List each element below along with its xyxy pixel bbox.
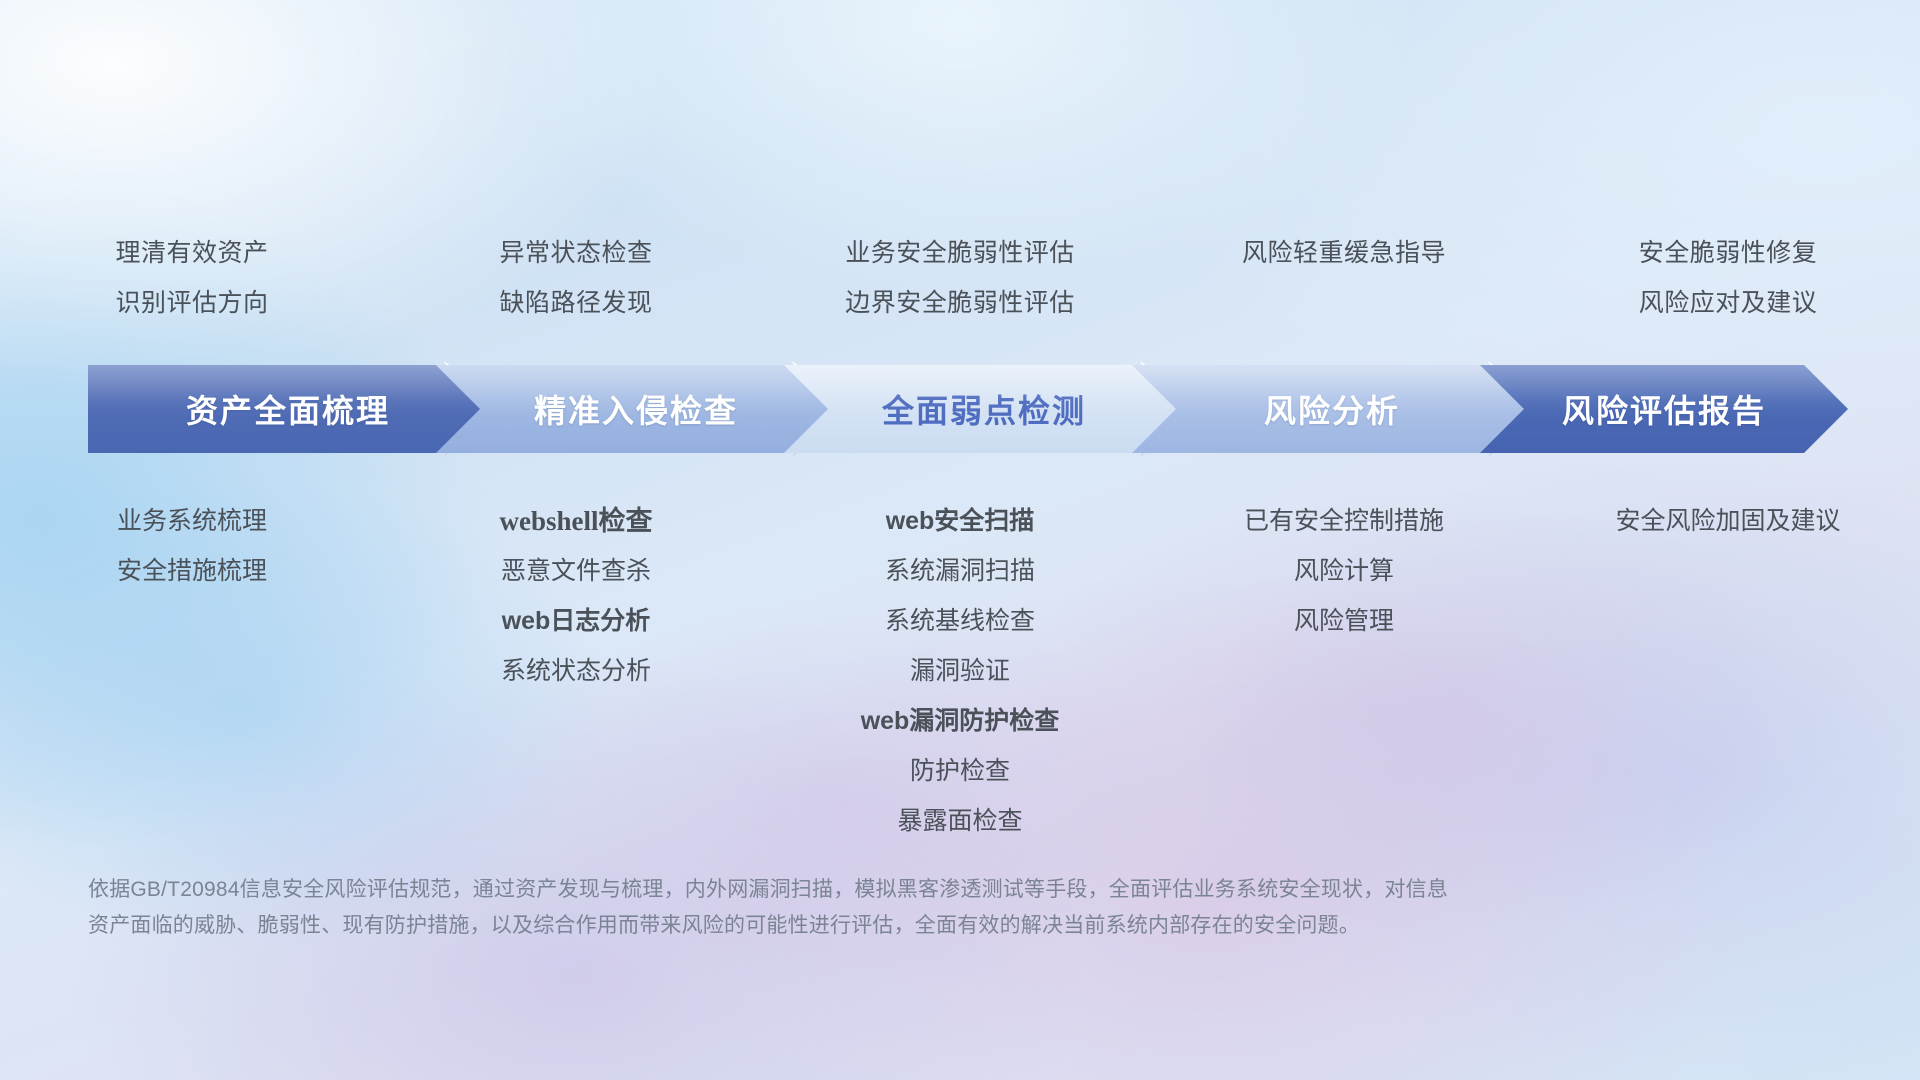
stage-detail-item: webshell检查 — [384, 496, 768, 546]
stage-detail-item: 漏洞验证 — [768, 646, 1152, 696]
stage-arrow-label: 资产全面梳理 — [186, 386, 390, 432]
top-caption: 安全脆弱性修复 — [1536, 228, 1920, 278]
top-captions-risk-analysis: 风险轻重缓急指导 — [1152, 228, 1536, 328]
stage-detail-row: 业务系统梳理安全措施梳理 webshell检查恶意文件查杀web日志分析系统状态… — [0, 496, 1920, 846]
stage-details-asset-inventory: 业务系统梳理安全措施梳理 — [0, 496, 384, 596]
stage-detail-item: 安全措施梳理 — [0, 546, 384, 596]
stage-detail-item: 暴露面检查 — [768, 796, 1152, 846]
stage-detail-item: web日志分析 — [384, 596, 768, 646]
stage-arrow-weakness-detection[interactable]: 全面弱点检测 — [784, 365, 1184, 453]
top-captions-asset-inventory: 理清有效资产 识别评估方向 — [0, 228, 384, 328]
stage-arrow-label: 精准入侵检查 — [534, 386, 738, 432]
top-caption-row: 理清有效资产 识别评估方向 异常状态检查 缺陷路径发现 业务安全脆弱性评估 边界… — [0, 228, 1920, 328]
top-caption: 风险应对及建议 — [1536, 278, 1920, 328]
top-caption: 业务安全脆弱性评估 — [768, 228, 1152, 278]
stage-detail-item: 已有安全控制措施 — [1152, 496, 1536, 546]
top-caption: 理清有效资产 — [0, 228, 384, 278]
top-caption: 缺陷路径发现 — [384, 278, 768, 328]
stage-details-risk-analysis: 已有安全控制措施风险计算风险管理 — [1152, 496, 1536, 646]
top-caption: 识别评估方向 — [0, 278, 384, 328]
stage-arrow-label: 全面弱点检测 — [882, 386, 1086, 432]
stage-detail-item: 系统漏洞扫描 — [768, 546, 1152, 596]
top-captions-risk-report: 安全脆弱性修复 风险应对及建议 — [1536, 228, 1920, 328]
stage-details-weakness-detection: web安全扫描系统漏洞扫描系统基线检查漏洞验证web漏洞防护检查防护检查暴露面检… — [768, 496, 1152, 846]
top-caption: 边界安全脆弱性评估 — [768, 278, 1152, 328]
stage-arrow-risk-analysis[interactable]: 风险分析 — [1132, 365, 1532, 453]
footer-description: 依据GB/T20984信息安全风险评估规范，通过资产发现与梳理，内外网漏洞扫描，… — [88, 872, 1788, 944]
top-captions-intrusion-check: 异常状态检查 缺陷路径发现 — [384, 228, 768, 328]
stage-arrow-band: 资产全面梳理 精准入侵检查 全面弱点检测 风险分析 风险评估报告 — [88, 365, 1848, 453]
footer-line: 资产面临的威胁、脆弱性、现有防护措施，以及综合作用而带来风险的可能性进行评估，全… — [88, 908, 1788, 944]
stage-detail-item: web漏洞防护检查 — [768, 696, 1152, 746]
stage-detail-item: 系统基线检查 — [768, 596, 1152, 646]
stage-detail-item: 业务系统梳理 — [0, 496, 384, 546]
top-caption: 异常状态检查 — [384, 228, 768, 278]
stage-arrow-label: 风险分析 — [1264, 386, 1400, 432]
top-caption: 风险轻重缓急指导 — [1152, 228, 1536, 278]
process-diagram: 理清有效资产 识别评估方向 异常状态检查 缺陷路径发现 业务安全脆弱性评估 边界… — [0, 0, 1920, 1080]
stage-arrow-label: 风险评估报告 — [1562, 386, 1766, 432]
stage-details-risk-report: 安全风险加固及建议 — [1536, 496, 1920, 546]
footer-line: 依据GB/T20984信息安全风险评估规范，通过资产发现与梳理，内外网漏洞扫描，… — [88, 872, 1788, 908]
stage-detail-item: 系统状态分析 — [384, 646, 768, 696]
stage-detail-item: 安全风险加固及建议 — [1536, 496, 1920, 546]
stage-detail-item: 风险计算 — [1152, 546, 1536, 596]
top-captions-weakness-detection: 业务安全脆弱性评估 边界安全脆弱性评估 — [768, 228, 1152, 328]
stage-detail-item: 恶意文件查杀 — [384, 546, 768, 596]
stage-detail-item: 防护检查 — [768, 746, 1152, 796]
stage-arrow-risk-report[interactable]: 风险评估报告 — [1480, 365, 1848, 453]
stage-detail-item: web安全扫描 — [768, 496, 1152, 546]
stage-arrow-asset-inventory[interactable]: 资产全面梳理 — [88, 365, 488, 453]
stage-arrow-intrusion-check[interactable]: 精准入侵检查 — [436, 365, 836, 453]
stage-detail-item: 风险管理 — [1152, 596, 1536, 646]
stage-details-intrusion-check: webshell检查恶意文件查杀web日志分析系统状态分析 — [384, 496, 768, 696]
